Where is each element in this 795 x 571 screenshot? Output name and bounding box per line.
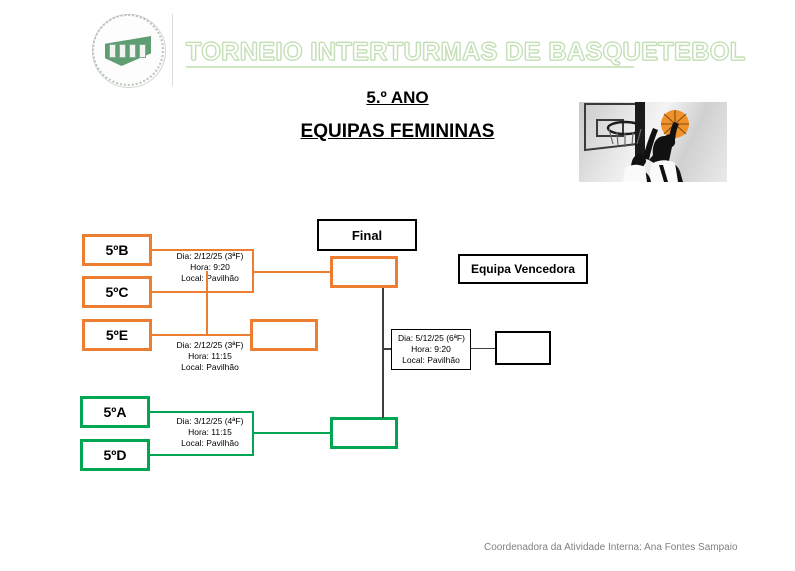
match-1-hora: Hora: 9:20 — [166, 262, 254, 273]
match-3-hora: Hora: 11:15 — [166, 427, 254, 438]
match-2-local: Local: Pavilhão — [166, 362, 254, 373]
connector-branch-vertical — [206, 271, 208, 334]
winner-label-box: Equipa Vencedora — [458, 254, 588, 284]
match-info-1: Dia: 2/12/25 (3ªF) Hora: 9:20 Local: Pav… — [166, 251, 254, 284]
match-info-3: Dia: 3/12/25 (4ªF) Hora: 11:15 Local: Pa… — [166, 416, 254, 449]
match-1-local: Local: Pavilhão — [166, 273, 254, 284]
slot-semifinal-lower[interactable] — [330, 417, 398, 449]
connector-5a-horizontal — [150, 411, 254, 413]
match-final-dia: Dia: 5/12/25 (6ªF) — [398, 333, 464, 344]
team-box-5d[interactable]: 5ºD — [80, 439, 150, 471]
basketball-photo-graphic — [579, 102, 727, 182]
page-title-underline — [186, 66, 634, 68]
team-box-5a[interactable]: 5ºA — [80, 396, 150, 428]
connector-champion-horizontal — [470, 348, 496, 349]
match-3-local: Local: Pavilhão — [166, 438, 254, 449]
match-1-dia: Dia: 2/12/25 (3ªF) — [166, 251, 254, 262]
match-info-final: Dia: 5/12/25 (6ªF) Hora: 9:20 Local: Pav… — [391, 329, 471, 370]
connector-match3-to-semifinal — [252, 432, 330, 434]
match-final-hora: Hora: 9:20 — [398, 344, 464, 355]
match-final-local: Local: Pavilhão — [398, 355, 464, 366]
connector-5e-horizontal — [152, 334, 252, 336]
footer-coordinator: Coordenadora da Atividade Interna: Ana F… — [484, 542, 738, 553]
team-box-5b[interactable]: 5ºB — [82, 234, 152, 266]
match-2-hora: Hora: 11:15 — [166, 351, 254, 362]
connector-final-vertical — [382, 288, 384, 418]
team-box-5c[interactable]: 5ºC — [82, 276, 152, 308]
header-divider — [172, 14, 173, 86]
connector-match1-to-semifinal — [252, 271, 330, 273]
slot-champion[interactable] — [495, 331, 551, 365]
match-3-dia: Dia: 3/12/25 (4ªF) — [166, 416, 254, 427]
connector-5c-horizontal — [152, 291, 254, 293]
school-logo — [92, 14, 164, 86]
slot-semifinal-upper[interactable] — [330, 256, 398, 288]
match-info-2: Dia: 2/12/25 (3ªF) Hora: 11:15 Local: Pa… — [166, 340, 254, 373]
tournament-bracket-page: TORNEIO INTERTURMAS DE BASQUETEBOL 5.º A… — [0, 0, 795, 571]
slot-semifinal-upper-2[interactable] — [250, 319, 318, 351]
team-box-5e[interactable]: 5ºE — [82, 319, 152, 351]
match-2-dia: Dia: 2/12/25 (3ªF) — [166, 340, 254, 351]
final-label-box: Final — [317, 219, 417, 251]
connector-5d-horizontal — [150, 454, 254, 456]
basketball-photo — [579, 102, 727, 182]
logo-bars-icon — [109, 42, 147, 58]
page-title: TORNEIO INTERTURMAS DE BASQUETEBOL — [186, 38, 746, 67]
